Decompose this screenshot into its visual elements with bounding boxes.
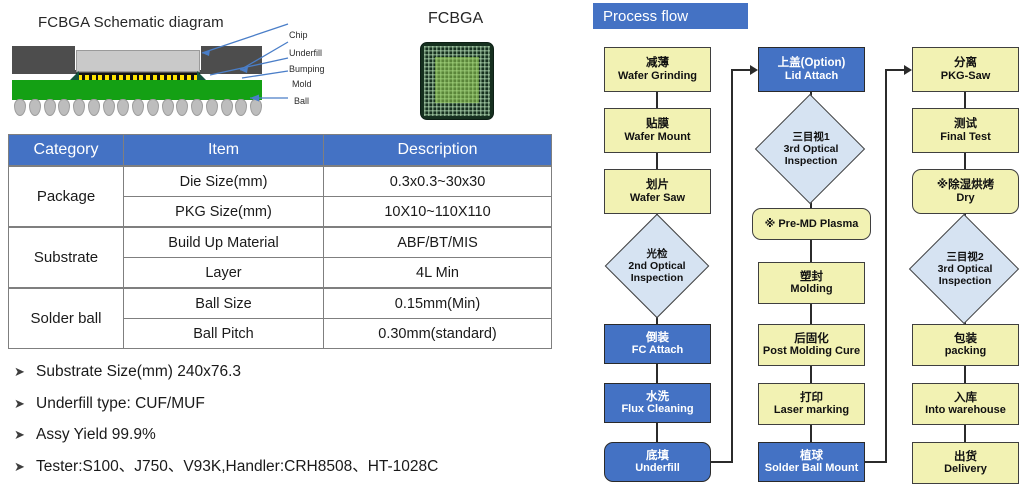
flow-node-fc-attach: 倒装 FC Attach [604, 324, 711, 364]
list-item: ➤ Underfill type: CUF/MUF [14, 394, 569, 413]
arrow-bullet-icon: ➤ [14, 457, 36, 476]
table-cell-category: Package [9, 166, 124, 227]
flow-node-cn: 塑封 [800, 271, 823, 284]
connector-line [711, 461, 733, 463]
callout-label-bumping: Bumping [289, 64, 325, 74]
flow-node-cn: 贴膜 [646, 118, 669, 131]
table-row: Package Die Size(mm) 0.3x0.3~30x30 [9, 166, 552, 197]
flow-node-underfill: 底填 Underfill [604, 442, 711, 482]
table-row: Substrate Build Up Material ABF/BT/MIS [9, 227, 552, 258]
callout-label-chip: Chip [289, 30, 308, 40]
connector-line [656, 92, 658, 108]
flow-node-en: Dry [956, 192, 974, 205]
connector-line [865, 461, 887, 463]
table-cell-description: 10X10~110X110 [324, 197, 552, 228]
photo-title: FCBGA [428, 10, 483, 28]
connector-line [885, 69, 887, 462]
flow-node-en: Post Molding Cure [763, 345, 860, 358]
flow-node-dry: ※除湿烘烤 Dry [912, 169, 1019, 214]
connector-line [731, 69, 733, 462]
flow-node-en: Wafer Mount [624, 131, 690, 144]
connector-line [964, 92, 966, 108]
flow-node-en: Wafer Saw [630, 192, 685, 205]
flow-node-cn: 植球 [800, 450, 823, 463]
connector-arrowhead-icon [750, 65, 758, 75]
table-cell-description: 0.30mm(standard) [324, 319, 552, 349]
table-cell-item: Ball Size [124, 288, 324, 319]
table-cell-description: ABF/BT/MIS [324, 227, 552, 258]
slide-root: FCBGA Schematic diagram FCBGA [0, 0, 1024, 499]
table-row: Solder ball Ball Size 0.15mm(Min) [9, 288, 552, 319]
flow-node-wafer-mount: 贴膜 Wafer Mount [604, 108, 711, 153]
list-item: ➤ Substrate Size(mm) 240x76.3 [14, 362, 569, 381]
flow-node-flux-cleaning: 水洗 Flux Cleaning [604, 383, 711, 423]
table-cell-category: Substrate [9, 227, 124, 288]
connector-line [810, 366, 812, 383]
table-cell-item: Build Up Material [124, 227, 324, 258]
flow-node-text: 光检 2nd Optical Inspection [602, 228, 712, 304]
flow-node-en: Solder Ball Mount [765, 462, 859, 475]
flow-node-final-test: 测试 Final Test [912, 108, 1019, 153]
flow-node-pre-md-plasma: ※ Pre-MD Plasma [752, 208, 871, 240]
flow-node-en: 3rd Optical Inspection [756, 143, 866, 167]
connector-line [964, 366, 966, 383]
connector-line [810, 240, 812, 262]
flow-node-post-molding-cure: 后固化 Post Molding Cure [758, 324, 865, 366]
flow-node-en: 2nd Optical Inspection [605, 260, 709, 284]
flow-node-en: packing [945, 345, 987, 358]
table-header-category: Category [9, 135, 124, 167]
connector-line [810, 425, 812, 442]
flow-node-en: Wafer Grinding [618, 70, 697, 83]
list-item-label: Substrate Size(mm) 240x76.3 [36, 362, 241, 381]
flow-node-cn: 入库 [954, 392, 977, 405]
table-cell-description: 0.15mm(Min) [324, 288, 552, 319]
flow-node-cn: 包装 [954, 333, 977, 346]
connector-line [964, 425, 966, 442]
table-cell-item: Ball Pitch [124, 319, 324, 349]
table-cell-item: PKG Size(mm) [124, 197, 324, 228]
table-cell-description: 4L Min [324, 258, 552, 289]
callout-label-ball: Ball [294, 96, 309, 106]
flow-node-en: Underfill [635, 462, 680, 475]
arrow-bullet-icon: ➤ [14, 425, 36, 444]
flow-node-solder-ball-mount: 植球 Solder Ball Mount [758, 442, 865, 482]
flow-node-cn: 上盖(Option) [778, 57, 846, 70]
flow-node-3rd-optical-inspection-1: 三目视1 3rd Optical Inspection [756, 108, 866, 190]
connector-line [810, 304, 812, 324]
arrow-bullet-icon: ➤ [14, 394, 36, 413]
flow-node-cn: 减薄 [646, 57, 669, 70]
flow-node-en: 3rd Optical Inspection [910, 263, 1020, 287]
flow-node-en: Laser marking [774, 404, 849, 417]
flow-node-2nd-optical-inspection: 光检 2nd Optical Inspection [602, 228, 712, 304]
flow-node-text: 三目视1 3rd Optical Inspection [756, 108, 866, 190]
flow-node-en: FC Attach [632, 344, 684, 357]
flow-node-cn: 光检 [647, 248, 668, 260]
flow-node-cn: 分离 [954, 57, 977, 70]
table-header-description: Description [324, 135, 552, 167]
flow-node-wafer-grinding: 减薄 Wafer Grinding [604, 47, 711, 92]
flow-node-pkg-saw: 分离 PKG-Saw [912, 47, 1019, 92]
flow-node-en: Into warehouse [925, 404, 1006, 417]
connector-line [656, 423, 658, 442]
flow-node-en: Lid Attach [785, 70, 838, 83]
callout-label-mold: Mold [292, 79, 312, 89]
flow-node-lid-attach: 上盖(Option) Lid Attach [758, 47, 865, 92]
flow-node-cn: 划片 [646, 179, 669, 192]
list-item: ➤ Tester:S100、J750、V93K,Handler:CRH8508、… [14, 457, 569, 476]
flow-node-laser-marking: 打印 Laser marking [758, 383, 865, 425]
list-item-label: Assy Yield 99.9% [36, 425, 156, 444]
table-header-item: Item [124, 135, 324, 167]
list-item-label: Tester:S100、J750、V93K,Handler:CRH8508、HT… [36, 457, 438, 476]
flow-node-cn: ※除湿烘烤 [937, 179, 994, 192]
process-flow-title: Process flow [593, 3, 748, 29]
flow-node-cn: ※ Pre-MD Plasma [765, 218, 859, 231]
spec-table: Category Item Description Package Die Si… [8, 134, 552, 349]
flow-node-cn: 三目视2 [946, 251, 983, 263]
list-item-label: Underfill type: CUF/MUF [36, 394, 205, 413]
table-cell-item: Layer [124, 258, 324, 289]
callout-label-underfill: Underfill [289, 48, 322, 58]
connector-arrowhead-icon [904, 65, 912, 75]
flow-node-cn: 后固化 [794, 333, 829, 346]
fcbga-package-photo [420, 42, 494, 120]
table-cell-category: Solder ball [9, 288, 124, 349]
flow-node-molding: 塑封 Molding [758, 262, 865, 304]
connector-line [656, 364, 658, 383]
connector-line [964, 153, 966, 169]
flow-node-packing: 包装 packing [912, 324, 1019, 366]
flow-node-cn: 测试 [954, 118, 977, 131]
flow-node-cn: 出货 [954, 451, 977, 464]
flow-node-cn: 三目视1 [792, 131, 829, 143]
die-shadow-area [435, 57, 479, 103]
flow-node-en: Delivery [944, 463, 987, 476]
list-item: ➤ Assy Yield 99.9% [14, 425, 569, 444]
table-cell-item: Die Size(mm) [124, 166, 324, 197]
connector-line [885, 69, 906, 71]
flow-node-en: PKG-Saw [941, 70, 991, 83]
flow-node-3rd-optical-inspection-2: 三目视2 3rd Optical Inspection [910, 228, 1020, 310]
arrow-bullet-icon: ➤ [14, 362, 36, 381]
bullet-list: ➤ Substrate Size(mm) 240x76.3 ➤ Underfil… [14, 362, 569, 488]
flow-node-cn: 水洗 [646, 391, 669, 404]
process-flow-pane: Process flow 减薄 Wafer Grinding 贴膜 Wafer … [575, 0, 1024, 499]
flow-node-delivery: 出货 Delivery [912, 442, 1019, 484]
table-cell-description: 0.3x0.3~30x30 [324, 166, 552, 197]
flow-node-en: Molding [790, 283, 832, 296]
connector-line [731, 69, 752, 71]
flow-node-cn: 底填 [646, 450, 669, 463]
flow-node-cn: 打印 [800, 392, 823, 405]
flow-node-en: Flux Cleaning [621, 403, 693, 416]
left-pane: FCBGA Schematic diagram FCBGA [0, 0, 575, 499]
flow-node-en: Final Test [940, 131, 991, 144]
flow-node-cn: 倒装 [646, 332, 669, 345]
connector-line [656, 153, 658, 169]
flow-node-into-warehouse: 入库 Into warehouse [912, 383, 1019, 425]
table-header-row: Category Item Description [9, 135, 552, 167]
flow-node-text: 三目视2 3rd Optical Inspection [910, 228, 1020, 310]
flow-node-wafer-saw: 划片 Wafer Saw [604, 169, 711, 214]
